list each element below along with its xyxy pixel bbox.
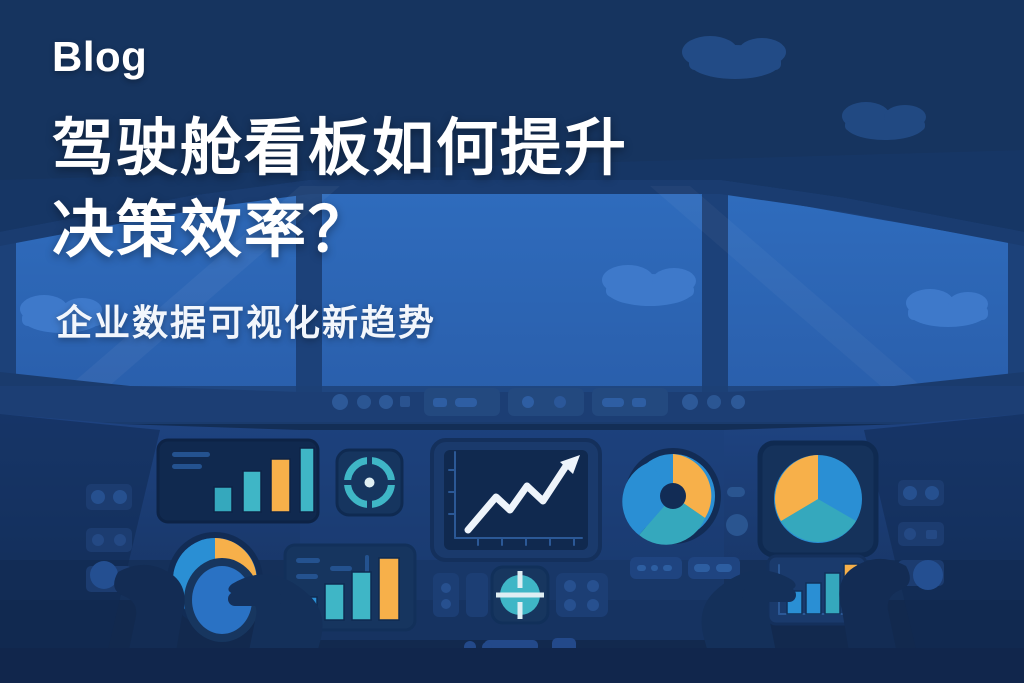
foreground-shadow <box>0 648 1024 683</box>
cockpit-window-structure <box>0 180 1024 420</box>
heading-target-gauge[interactable] <box>337 450 402 515</box>
far-right-pie-chart-panel[interactable] <box>760 443 876 555</box>
overhead-right-indicators[interactable] <box>682 394 745 410</box>
center-window <box>318 186 706 392</box>
center-trend-screen[interactable] <box>432 440 600 560</box>
overhead-switch-groups[interactable] <box>424 388 668 416</box>
left-bar-chart-panel[interactable] <box>158 440 318 522</box>
cockpit-illustration <box>0 0 1024 683</box>
cockpit-blog-banner: Blog 驾驶舱看板如何提升 决策效率？ 企业数据可视化新趋势 <box>0 0 1024 683</box>
